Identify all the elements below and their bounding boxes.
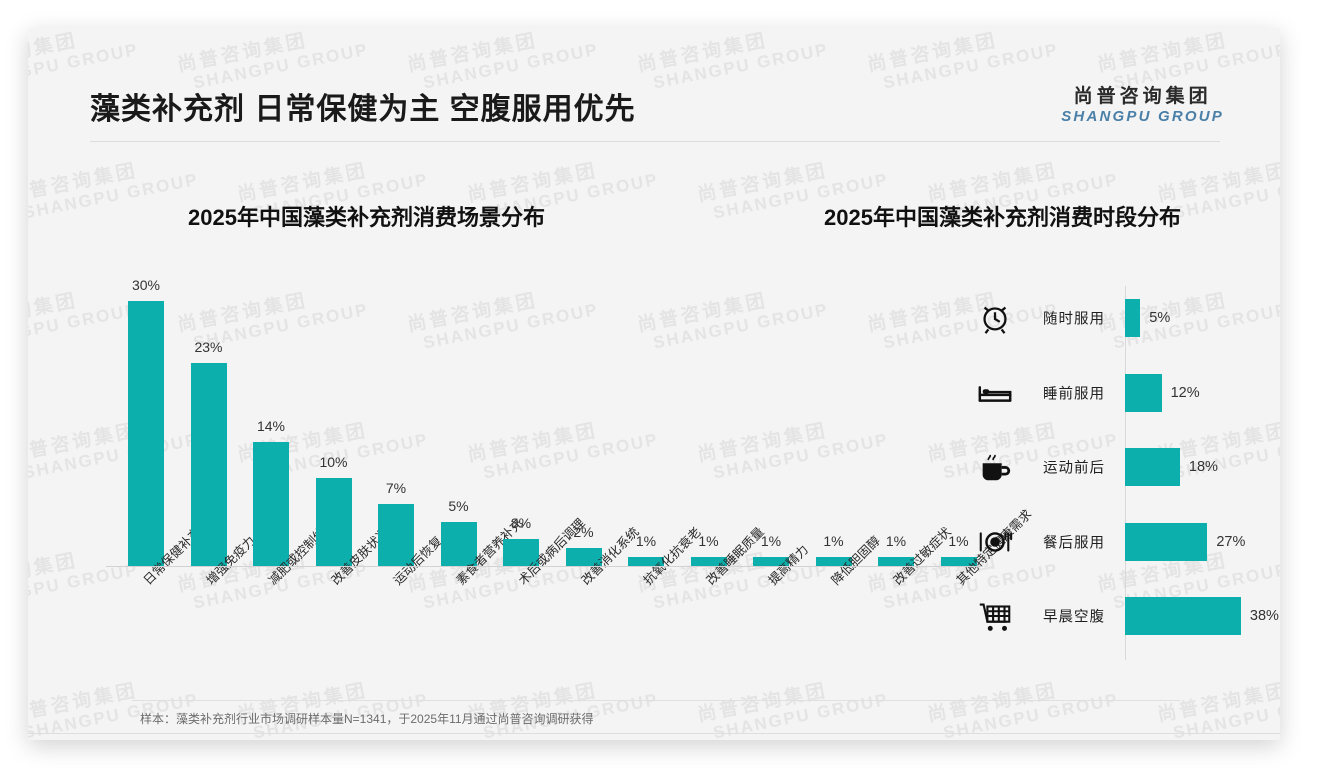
watermark-text: 尚普咨询集团SHANGPU GROUP — [926, 670, 1120, 740]
plate-cutlery-icon — [975, 523, 1015, 561]
column-value-label: 23% — [174, 339, 244, 355]
logo-cn-text: 尚普咨询集团 — [1061, 86, 1224, 108]
logo-en-text: SHANGPU GROUP — [1061, 108, 1224, 126]
horizontal-bar — [1125, 597, 1241, 635]
horizontal-bar — [1125, 448, 1180, 486]
bar-value-label: 27% — [1216, 534, 1245, 550]
shopping-cart-icon — [975, 597, 1015, 635]
header-divider — [90, 141, 1220, 142]
column-value-label: 5% — [424, 498, 494, 514]
horizontal-bar — [1125, 299, 1140, 337]
slide-header: 藻类补充剂 日常保健为主 空腹服用优先 尚普咨询集团 SHANGPU GROUP — [28, 28, 1280, 120]
column-bar — [316, 478, 352, 566]
bar-chart-row: 随时服用5% — [973, 286, 1273, 350]
column-bar — [253, 442, 289, 566]
consumption-timing-bar-chart: 随时服用5%睡前服用12%运动前后18%餐后服用27%早晨空腹38% — [973, 286, 1273, 678]
bar-category-label: 餐后服用 — [1043, 531, 1105, 552]
bar-value-label: 5% — [1149, 310, 1170, 326]
brand-logo: 尚普咨询集团 SHANGPU GROUP — [1061, 86, 1224, 126]
bar-chart-row: 餐后服用27% — [973, 510, 1273, 574]
watermark-text: 尚普咨询集团SHANGPU GROUP — [466, 670, 660, 740]
consumption-scenario-column-chart: 30%日常保健补充23%增强免疫力14%减肥或控制体重10%改善皮肤状况7%运动… — [88, 283, 988, 678]
slide-card: 尚普咨询集团SHANGPU GROUP尚普咨询集团SHANGPU GROUP尚普… — [28, 28, 1280, 740]
sample-footnote: 样本：藻类补充剂行业市场调研样本量N=1341，于2025年11月通过尚普咨询调… — [140, 710, 594, 727]
bar-value-label: 18% — [1189, 459, 1218, 475]
column-bar — [128, 301, 164, 566]
column-category-label: 改善睡眠质量 — [701, 522, 767, 588]
column-value-label: 2% — [549, 524, 619, 540]
column-value-label: 30% — [111, 277, 181, 293]
footnote-divider — [132, 700, 1180, 701]
bar-value-label: 38% — [1250, 608, 1279, 624]
bar-category-label: 早晨空腹 — [1043, 606, 1105, 627]
bar-chart-row: 运动前后18% — [973, 435, 1273, 499]
bar-category-label: 运动前后 — [1043, 457, 1105, 478]
column-bar — [191, 363, 227, 566]
watermark-text: 尚普咨询集团SHANGPU GROUP — [236, 670, 430, 740]
bar-value-label: 12% — [1171, 385, 1200, 401]
left-chart-title: 2025年中国藻类补充剂消费场景分布 — [188, 200, 545, 232]
footer-divider — [28, 733, 1280, 734]
watermark-text: 尚普咨询集团SHANGPU GROUP — [28, 670, 200, 740]
column-value-label: 14% — [236, 418, 306, 434]
bar-chart-row: 早晨空腹38% — [973, 584, 1273, 648]
column-value-label: 7% — [361, 480, 431, 496]
right-chart-title: 2025年中国藻类补充剂消费时段分布 — [824, 200, 1181, 232]
column-plot-area: 30%日常保健补充23%增强免疫力14%减肥或控制体重10%改善皮肤状况7%运动… — [106, 283, 976, 566]
horizontal-bar — [1125, 523, 1207, 561]
bed-icon — [975, 374, 1015, 412]
alarm-clock-icon — [975, 299, 1015, 337]
column-value-label: 10% — [299, 454, 369, 470]
watermark-text: 尚普咨询集团SHANGPU GROUP — [1156, 670, 1280, 740]
column-chart-baseline — [106, 566, 982, 567]
watermark-text: 尚普咨询集团SHANGPU GROUP — [696, 670, 890, 740]
bar-chart-row: 睡前服用12% — [973, 361, 1273, 425]
bar-category-label: 随时服用 — [1043, 308, 1105, 329]
column-category-label: 抗氧化抗衰老 — [638, 522, 704, 588]
column-value-label: 3% — [486, 515, 556, 531]
column-category-label: 改善过敏症状 — [888, 522, 954, 588]
watermark-text: 尚普咨询集团SHANGPU GROUP — [28, 150, 200, 224]
horizontal-bar — [1125, 374, 1162, 412]
mug-icon — [975, 448, 1015, 486]
page-title: 藻类补充剂 日常保健为主 空腹服用优先 — [90, 84, 636, 128]
bar-category-label: 睡前服用 — [1043, 382, 1105, 403]
